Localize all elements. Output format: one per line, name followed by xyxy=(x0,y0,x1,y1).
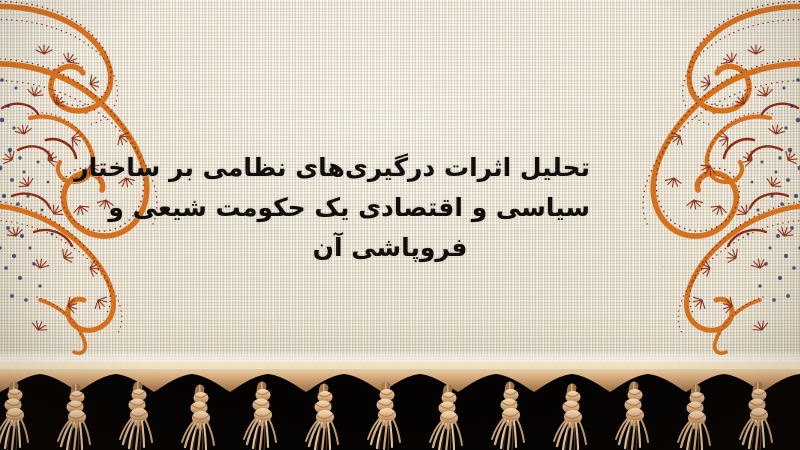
slide-canvas: تحلیل اثرات درگیری‌های نظامی بر ساختار س… xyxy=(0,0,800,450)
title-line-3: فروپاشی آن xyxy=(190,228,590,268)
fringe-tassels xyxy=(0,386,772,450)
fringe-tassel-row xyxy=(0,362,800,450)
title-line-2: سیاسی و اقتصادی یک حکومت شیعی و xyxy=(190,188,590,228)
fringe-region xyxy=(0,362,800,450)
title-block: تحلیل اثرات درگیری‌های نظامی بر ساختار س… xyxy=(190,148,590,268)
title-line-1: تحلیل اثرات درگیری‌های نظامی بر ساختار xyxy=(190,148,590,188)
